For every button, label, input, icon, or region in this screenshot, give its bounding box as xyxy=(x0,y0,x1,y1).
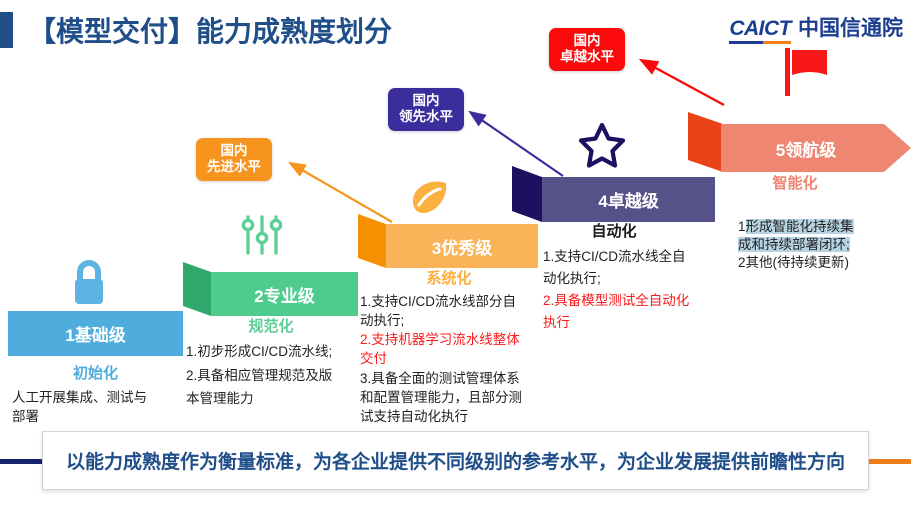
footer-text: 以能力成熟度作为衡量标准，为各企业提供不同级别的参考水平，为企业发展提供前瞻性方… xyxy=(66,447,845,474)
step-level-2-desc: 1.初步形成CI/CD流水线; 2.具备相应管理规范及版 本管理能力 xyxy=(186,340,361,411)
level-4-desc-line-4: 执行 xyxy=(543,312,723,334)
step-level-2-side xyxy=(183,262,211,316)
step-level-5-label: 5领航级 xyxy=(721,124,891,172)
callout-leading[interactable]: 国内 领先水平 xyxy=(388,88,464,131)
level-1-desc-line-2: 部署 xyxy=(12,407,182,426)
step-level-1-subtitle: 初始化 xyxy=(8,362,183,383)
sliders-icon xyxy=(240,214,284,256)
step-level-3-desc: 1.支持CI/CD流水线部分自 动执行; 2.支持机器学习流水线整体 交付 3.… xyxy=(360,292,542,426)
slide-root: 【模型交付】能力成熟度划分 CAICT 中国信通院 xyxy=(0,0,911,510)
callout-advanced-line2: 先进水平 xyxy=(207,159,261,175)
level-5-desc-hl-1: 形成智能化持续集 xyxy=(746,219,854,234)
callout-excellent-line2: 卓越水平 xyxy=(560,49,614,65)
callout-advanced-line1: 国内 xyxy=(207,143,261,159)
level-5-desc-line-3: 2其他(待持续更新) xyxy=(738,254,903,272)
step-level-5-subtitle: 智能化 xyxy=(700,172,890,193)
logo-name-cn: 中国信通院 xyxy=(798,18,903,39)
step-level-5-desc: 1形成智能化持续集 成和持续部署闭环; 2其他(待持续更新) xyxy=(738,218,903,272)
leaf-icon xyxy=(408,180,450,216)
logo-underline-orange xyxy=(763,41,791,44)
step-level-3-side xyxy=(358,214,386,268)
level-5-desc-line-2: 成和持续部署闭环; xyxy=(738,236,903,254)
step-level-3[interactable]: 3优秀级 xyxy=(358,214,538,268)
level-4-desc-line-1: 1.支持CI/CD流水线全自 xyxy=(543,246,723,268)
step-level-2[interactable]: 2专业级 xyxy=(183,262,358,316)
level-3-desc-line-5: 3.具备全面的测试管理体系 xyxy=(360,369,542,388)
page-title: 【模型交付】能力成熟度划分 xyxy=(28,10,392,50)
level-3-desc-line-1: 1.支持CI/CD流水线部分自 xyxy=(360,292,542,311)
level-3-desc-line-4: 交付 xyxy=(360,349,542,368)
step-level-5-side xyxy=(688,112,723,172)
step-level-4-side xyxy=(512,166,542,222)
level-3-desc-line-3: 2.支持机器学习流水线整体 xyxy=(360,330,542,349)
callout-leading-line2: 领先水平 xyxy=(399,109,453,125)
step-level-1[interactable]: 1基础级 xyxy=(8,311,183,356)
level-1-desc-line-1: 人工开展集成、测试与 xyxy=(12,388,182,407)
step-level-4-subtitle: 自动化 xyxy=(513,220,715,241)
step-level-2-label: 2专业级 xyxy=(211,272,358,316)
level-5-desc-num: 1 xyxy=(738,219,746,234)
logo-underline-blue xyxy=(729,41,763,44)
step-level-3-subtitle: 系统化 xyxy=(360,267,538,288)
step-level-2-subtitle: 规范化 xyxy=(185,315,357,336)
logo-abbr-wrap: CAICT xyxy=(729,18,791,39)
red-flag-icon xyxy=(783,48,829,96)
callout-leading-line1: 国内 xyxy=(399,93,453,109)
level-4-desc-line-3: 2.具备模型测试全自动化 xyxy=(543,290,723,312)
level-5-desc-line-1: 1形成智能化持续集 xyxy=(738,218,903,236)
step-level-1-label: 1基础级 xyxy=(8,311,183,356)
padlock-icon xyxy=(68,258,110,310)
title-accent-bar xyxy=(0,12,13,48)
logo-abbr: CAICT xyxy=(729,17,791,40)
step-level-5[interactable]: 5领航级 xyxy=(688,112,911,172)
level-2-desc-line-3: 本管理能力 xyxy=(186,387,361,411)
level-3-desc-line-6: 和配置管理能力，且部分测 xyxy=(360,388,542,407)
caict-logo: CAICT 中国信通院 xyxy=(729,18,903,39)
step-level-1-desc: 人工开展集成、测试与 部署 xyxy=(12,388,182,426)
level-2-desc-line-1: 1.初步形成CI/CD流水线; xyxy=(186,340,361,364)
step-level-4[interactable]: 4卓越级 xyxy=(512,166,715,222)
level-3-desc-line-2: 动执行; xyxy=(360,311,542,330)
level-3-desc-line-7: 试支持自动化执行 xyxy=(360,407,542,426)
step-level-4-label: 4卓越级 xyxy=(542,177,715,222)
footer-banner: 以能力成熟度作为衡量标准，为各企业提供不同级别的参考水平，为企业发展提供前瞻性方… xyxy=(42,431,869,490)
step-level-4-desc: 1.支持CI/CD流水线全自 动化执行; 2.具备模型测试全自动化 执行 xyxy=(543,246,723,333)
callout-advanced[interactable]: 国内 先进水平 xyxy=(196,138,272,181)
callout-excellent-line1: 国内 xyxy=(560,33,614,49)
callout-excellent[interactable]: 国内 卓越水平 xyxy=(549,28,625,71)
star-outline-icon xyxy=(578,122,626,168)
level-5-desc-hl-2: 成和持续部署闭环; xyxy=(738,237,850,252)
level-4-desc-line-2: 动化执行; xyxy=(543,268,723,290)
level-2-desc-line-2: 2.具备相应管理规范及版 xyxy=(186,364,361,388)
